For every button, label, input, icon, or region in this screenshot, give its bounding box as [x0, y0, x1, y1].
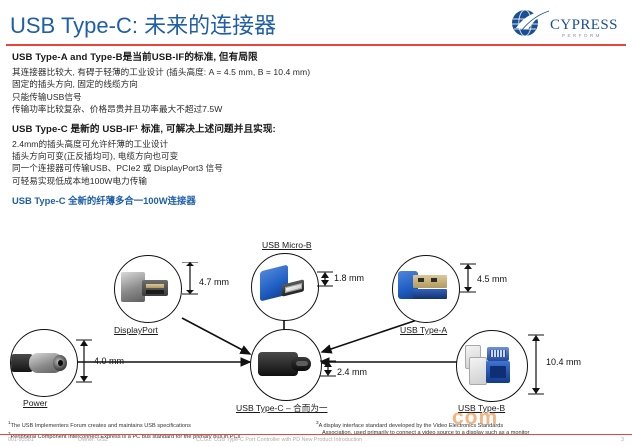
dim-arrow-displayport — [182, 262, 198, 296]
logo-globe-icon — [512, 10, 549, 36]
section-1-line-4: 传输功率比较复杂、价格昂贵并且功率最大不超过7.5W — [12, 103, 442, 115]
label-power: Power — [23, 398, 47, 408]
dim-usb-type-a: 4.5 mm — [477, 274, 507, 284]
footnote-3-text: A display interface standard developed b… — [319, 423, 504, 429]
logo-wordmark: CYPRESS — [550, 17, 618, 33]
node-usb-type-c[interactable] — [250, 329, 322, 401]
section-1-line-3: 只能传输USB信号 — [12, 91, 442, 103]
displayport-connector-art — [115, 256, 181, 322]
slide-canvas: USB Type-C: 未来的连接器 CYPRESS PERFORM USB T… — [0, 0, 632, 447]
section-spacer — [12, 116, 442, 123]
node-power[interactable] — [10, 329, 78, 397]
section-2-line-1: 2.4mm的插头高度可允许纤薄的工业设计 — [12, 138, 442, 150]
footnote-1-text: The USB Implementers Forum creates and m… — [11, 423, 191, 429]
dim-arrow-type-a — [460, 263, 476, 295]
cypress-logo: CYPRESS PERFORM — [504, 8, 624, 42]
content-body: USB Type-A and Type-B是当前USB-IF的标准, 但有局限 … — [12, 51, 442, 208]
section-1-heading: USB Type-A and Type-B是当前USB-IF的标准, 但有局限 — [12, 51, 442, 64]
footer-owner: Owner: GSZ — [78, 437, 108, 443]
diagram-title: USB Type-C 全新的纤薄多合一100W连接器 — [12, 194, 442, 208]
dim-displayport: 4.7 mm — [199, 277, 229, 287]
dim-usb-type-b: 10.4 mm — [546, 357, 581, 367]
label-usb-type-a: USB Type-A — [400, 325, 447, 335]
page-title: USB Type-C: 未来的连接器 — [10, 8, 276, 40]
power-connector-art — [11, 330, 77, 396]
usb-type-c-connector-art — [251, 330, 321, 400]
footnote-3: 3A display interface standard developed … — [316, 419, 616, 430]
dim-usb-micro-b: 1.8 mm — [334, 273, 364, 283]
section-1-line-1: 其连接器比较大, 有碍于轻薄的工业设计 (插头高度: A = 4.5 mm, B… — [12, 66, 442, 78]
usb-micro-b-connector-art — [252, 254, 318, 320]
label-usb-micro-b: USB Micro-B — [262, 240, 312, 250]
logo-tagline: PERFORM — [562, 33, 602, 38]
dim-power: 4.0 mm — [94, 356, 124, 366]
section-2-line-4: 可轻易实现低成本地100W电力传输 — [12, 175, 442, 187]
section-1-line-2: 固定的插头方向, 固定的线缆方向 — [12, 78, 442, 90]
section-2-line-3: 同一个连接器可传输USB、PCIe2 或 DisplayPort3 信号 — [12, 162, 442, 174]
label-displayport: DisplayPort — [114, 325, 158, 335]
usb-type-b-connector-art — [457, 331, 527, 401]
label-usb-type-c: USB Type-C – 合而为一 — [236, 402, 328, 414]
dim-arrow-micro-b — [317, 269, 333, 291]
footer-page-number: 3 — [621, 437, 624, 443]
label-usb-type-b: USB Type-B — [458, 403, 505, 413]
slide-footer: 001-93581 Owner: GSZ CCG1: USB Type-C Po… — [0, 436, 632, 447]
section-spacer-2 — [12, 187, 442, 194]
footnote-1: 1The USB Implementers Forum creates and … — [8, 419, 308, 430]
section-2-heading: USB Type-C 是新的 USB-IF¹ 标准, 可解决上述问题并且实现: — [12, 123, 442, 136]
footer-doc-id: 001-93581 — [8, 437, 34, 443]
node-usb-micro-b[interactable] — [251, 253, 319, 321]
section-2-line-2: 插头方向可变(正反插均可), 电缆方向也可变 — [12, 150, 442, 162]
dim-arrow-power — [76, 339, 92, 385]
node-usb-type-b[interactable] — [456, 330, 528, 402]
footer-divider — [0, 434, 632, 435]
connector-diagram: 4.7 mm DisplayPort 1.8 mm USB Micro-B — [0, 245, 632, 417]
node-displayport[interactable] — [114, 255, 182, 323]
dim-arrow-type-b — [528, 333, 544, 397]
usb-type-a-connector-art — [393, 256, 459, 322]
dim-arrow-type-c — [320, 357, 336, 381]
dim-usb-type-c: 2.4 mm — [337, 367, 367, 377]
title-divider — [6, 44, 626, 46]
node-usb-type-a[interactable] — [392, 255, 460, 323]
footer-deck-title: CCG1: USB Type-C Port Controller with PD… — [196, 437, 362, 443]
